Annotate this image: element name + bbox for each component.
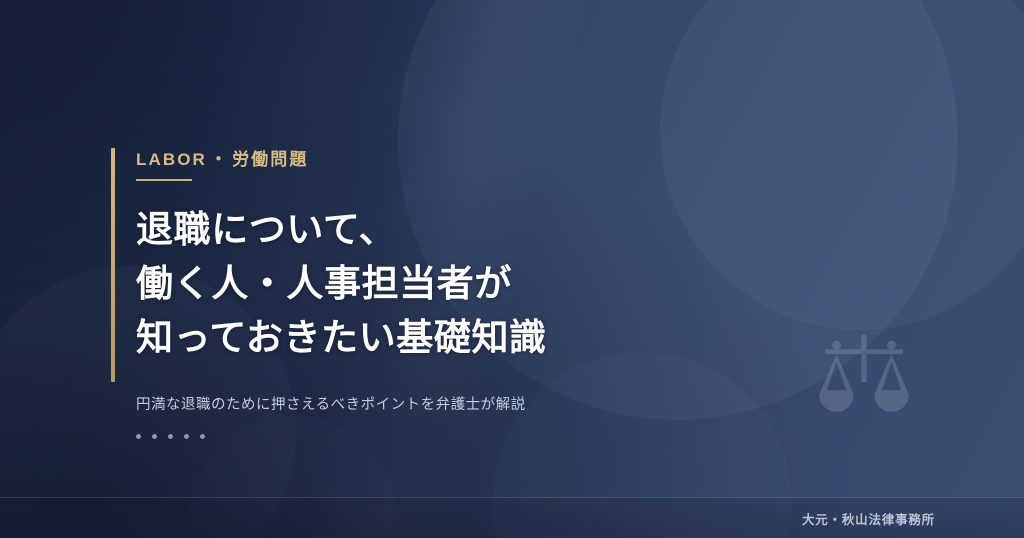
banner-content: LABOR・労働問題 退職について、 働く人・人事担当者が 知っておきたい基礎知… <box>136 150 776 439</box>
title-line-3: 知っておきたい基礎知識 <box>136 311 776 365</box>
pagination-dot <box>152 434 157 439</box>
pagination-dots <box>136 434 776 439</box>
page-subtitle: 円満な退職のために押さえるべきポイントを弁護士が解説 <box>136 395 776 415</box>
scales-of-justice-icon <box>810 326 918 434</box>
pagination-dot <box>136 434 141 439</box>
gold-accent-bar <box>111 148 115 382</box>
pagination-dot <box>168 434 173 439</box>
category-separator: ・ <box>207 150 232 169</box>
title-line-1: 退職について、 <box>136 203 776 257</box>
firm-name: 大元・秋山法律事務所 <box>802 509 935 528</box>
footer-divider <box>0 497 1024 498</box>
category-label-en: LABOR <box>136 150 207 169</box>
title-line-2: 働く人・人事担当者が <box>136 257 776 311</box>
pagination-dot <box>184 434 189 439</box>
category-label-ja: 労働問題 <box>232 150 308 169</box>
eyebrow-underline <box>136 179 192 181</box>
hero-banner: LABOR・労働問題 退職について、 働く人・人事担当者が 知っておきたい基礎知… <box>0 0 1024 538</box>
category-eyebrow: LABOR・労働問題 <box>136 150 776 170</box>
page-title: 退職について、 働く人・人事担当者が 知っておきたい基礎知識 <box>136 203 776 365</box>
pagination-dot <box>200 434 205 439</box>
